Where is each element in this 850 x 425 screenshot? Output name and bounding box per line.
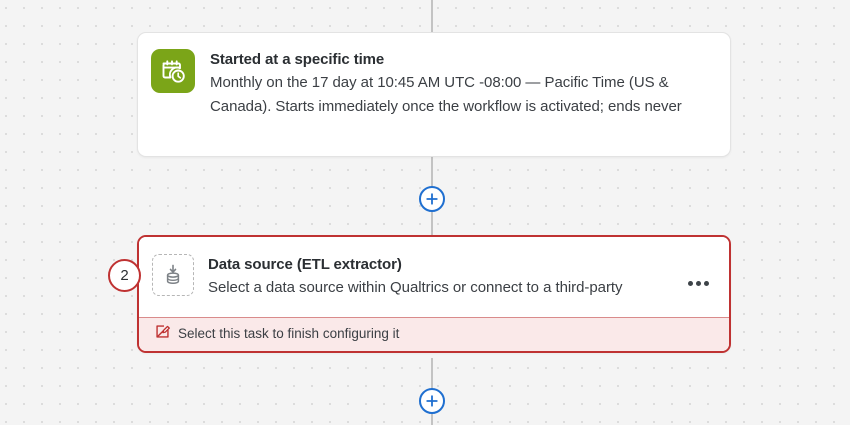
task-error-banner: Select this task to finish configuring i… (139, 317, 729, 351)
plus-icon (425, 394, 439, 408)
trigger-title: Started at a specific time (210, 50, 712, 70)
task-description: Select a data source within Qualtrics or… (208, 276, 669, 300)
workflow-node-trigger[interactable]: Started at a specific time Monthly on th… (137, 32, 731, 157)
task-error-message: Select this task to finish configuring i… (178, 325, 399, 343)
connector-line-top (431, 0, 433, 34)
kebab-dot (696, 281, 701, 286)
add-step-button-after-trigger[interactable] (419, 186, 445, 212)
workflow-canvas: Started at a specific time Monthly on th… (0, 0, 850, 425)
task-text-block: Data source (ETL extractor) Select a dat… (208, 254, 669, 300)
task-more-options-button[interactable] (683, 270, 713, 296)
task-body: Data source (ETL extractor) Select a dat… (139, 237, 729, 317)
plus-icon (425, 192, 439, 206)
trigger-description: Monthly on the 17 day at 10:45 AM UTC -0… (210, 71, 712, 119)
kebab-dot (704, 281, 709, 286)
calendar-clock-icon (151, 49, 195, 93)
edit-pencil-icon (155, 324, 170, 344)
kebab-dot (688, 281, 693, 286)
trigger-text-block: Started at a specific time Monthly on th… (210, 49, 712, 119)
task-step-badge: 2 (108, 259, 141, 292)
add-step-button-after-task[interactable] (419, 388, 445, 414)
task-title: Data source (ETL extractor) (208, 255, 669, 275)
data-source-icon (152, 254, 194, 296)
workflow-node-task[interactable]: Data source (ETL extractor) Select a dat… (137, 235, 731, 353)
